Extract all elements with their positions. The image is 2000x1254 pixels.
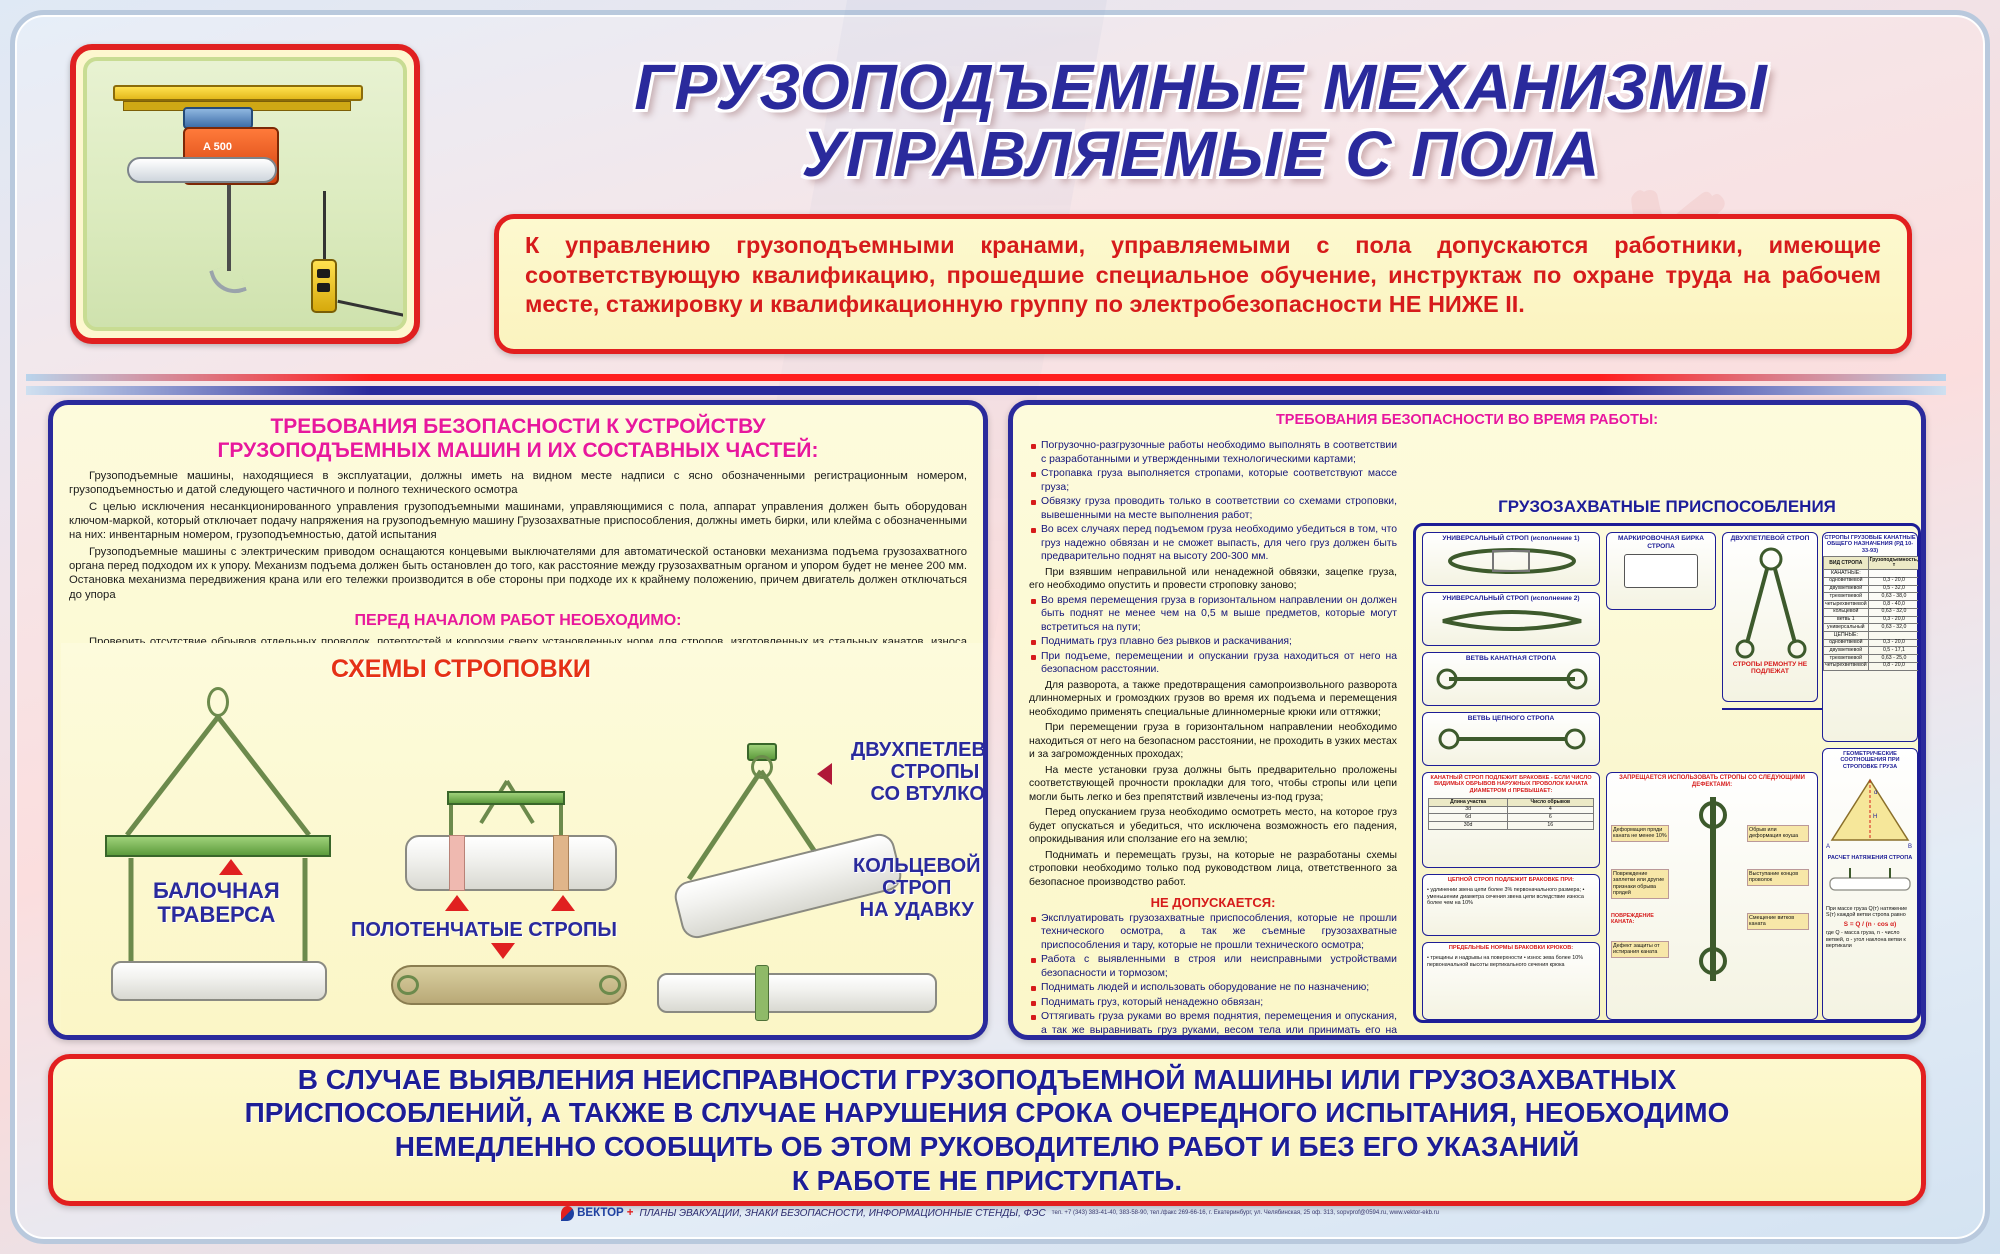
left-para-2: С целью исключения несанкционированного …: [69, 500, 967, 543]
cell-rope-branch: ВЕТВЬ КАНАТНАЯ СТРОПА: [1422, 652, 1600, 706]
footer-bar: ВЕКТОР + ПЛАНЫ ЭВАКУАЦИИ, ЗНАКИ БЕЗОПАСН…: [26, 1200, 1974, 1226]
hoist-model-label: A 500: [203, 141, 232, 153]
brand-name: ВЕКТОР: [577, 1207, 624, 1219]
geometry-text: При массе груза Q(т) натяжение S(т) кажд…: [1823, 905, 1917, 920]
right-para-3: На месте установки груза должны быть пре…: [1017, 763, 1409, 806]
brand-plus: +: [627, 1207, 634, 1219]
right-para-5: Поднимать и перемещать грузы, на которые…: [1017, 848, 1409, 891]
towel-strap-right: [553, 835, 569, 891]
label-towel-slings: ПОЛОТЕНЧАТЫЕ СТРОПЫ: [351, 919, 617, 941]
left-panel-title: ТРЕБОВАНИЯ БЕЗОПАСНОСТИ К УСТРОЙСТВУ ГРУ…: [53, 405, 983, 467]
geometry-note: где Q - масса груза, n - число ветвей, α…: [1823, 929, 1917, 950]
traverse-top-ring: [207, 687, 229, 717]
towel-load-pipe: [405, 835, 617, 891]
banner-line-4: К РАБОТЕ НЕ ПРИСТУПАТЬ.: [245, 1164, 1730, 1198]
right-para-4: Перед опусканием груза необходимо осмотр…: [1017, 805, 1409, 848]
right-panel-text-column: Погрузочно-разгрузочные работы необходим…: [1017, 439, 1409, 1039]
cell-rope-reject: КАНАТНЫЙ СТРОП ПОДЛЕЖИТ БРАКОВКЕ - ЕСЛИ …: [1422, 772, 1600, 868]
defect-1: Деформация пряди каната не менее 10%: [1611, 825, 1669, 842]
table-row: двухветвевой0,5 - 32,02 СК: [1824, 585, 1922, 593]
bullet-main-2: Стропавка груза выполняется стропами, ко…: [1029, 467, 1397, 494]
table-row: одноветвевой0,3 - 20,01 СЦ: [1824, 639, 1922, 647]
cell-universal-sling-2: УНИВЕРСАЛЬНЫЙ СТРОП (исполнение 2): [1422, 592, 1600, 646]
not-allowed-5: Оттягивать груза руками во время подняти…: [1029, 1010, 1397, 1039]
table-row: 30d16: [1429, 822, 1593, 830]
left-panel: ТРЕБОВАНИЯ БЕЗОПАСНОСТИ К УСТРОЙСТВУ ГРУ…: [48, 400, 988, 1040]
safety-poster: ✗ A 500: [0, 0, 2000, 1254]
right-panel: ТРЕБОВАНИЯ БЕЗОПАСНОСТИ ВО ВРЕМЯ РАБОТЫ:…: [1008, 400, 1926, 1040]
not-allowed-3: Поднимать людей и использовать оборудова…: [1029, 981, 1397, 995]
right-para-1: Для разворота, а также предотвращения са…: [1017, 678, 1409, 721]
traverse-beam: [105, 835, 331, 857]
cell-two-loop-sling: ДВУХПЕТЛЕВОЙ СТРОП СТРОПЫ РЕМОНТУ НЕ ПОД…: [1722, 532, 1818, 702]
flat-braided-sling: [391, 965, 627, 1005]
before-work-heading: ПЕРЕД НАЧАЛОМ РАБОТ НЕОБХОДИМО:: [53, 612, 983, 630]
defect-5: Смещение витков каната: [1747, 913, 1809, 930]
footer-contacts: тел. +7 (343) 383-41-40, 383-58-90, тел.…: [1052, 1210, 1439, 1216]
right-para-2: При перемещении груза в горизонтальном н…: [1017, 720, 1409, 763]
defect-3: Повреждение заплетки или другие признаки…: [1611, 869, 1669, 899]
bullets-move: Во время перемещения груза в горизонталь…: [1017, 594, 1409, 677]
not-allowed-2: Работа с выявленными в строя или неиспра…: [1029, 953, 1397, 980]
svg-text:B: B: [1908, 844, 1912, 850]
towel-beam: [447, 791, 565, 805]
flat-sling-eye-left: [397, 975, 419, 995]
label-beam-traverse: БАЛОЧНАЯ ТРАВЕРСА: [153, 879, 280, 927]
lifting-heading: При взявшим неправильной или ненадежной …: [1017, 565, 1409, 594]
arrow-towel-down: [491, 943, 515, 959]
traverse-load-pipe: [111, 961, 327, 1001]
arrow-traverse: [219, 859, 243, 875]
bullet-move-2: Поднимать груз плавно без рывков и раска…: [1029, 635, 1397, 649]
cell-hook-norms: ПРЕДЕЛЬНЫЕ НОРМЫ БРАКОВКИ КРЮКОВ: • трещ…: [1422, 942, 1600, 1020]
footer-tagline: ПЛАНЫ ЭВАКУАЦИИ, ЗНАКИ БЕЗОПАСНОСТИ, ИНФ…: [639, 1208, 1045, 1219]
divider-red: [26, 374, 1946, 381]
label-two-loop-sling: ДВУХПЕТЛЕВЫЕ СТРОПЫ СО ВТУЛКОЙ: [851, 739, 988, 805]
bullet-move-3: При подъеме, перемещении и опускании гру…: [1029, 650, 1397, 677]
divider-blue: [26, 386, 1946, 395]
table-row: 3d4: [1429, 806, 1593, 814]
sling-table-header-row: ВИД СТРОПА Грузоподъемность, т Условное …: [1824, 557, 1922, 570]
left-title-line-1: ТРЕБОВАНИЯ БЕЗОПАСНОСТИ К УСТРОЙСТВУ: [59, 415, 977, 439]
vector-logo: ВЕКТОР +: [561, 1206, 633, 1221]
right-panel-title: ТРЕБОВАНИЯ БЕЗОПАСНОСТИ ВО ВРЕМЯ РАБОТЫ:: [1013, 405, 1921, 432]
left-para-1: Грузоподъемные машины, находящиеся в экс…: [69, 469, 967, 498]
cell-forbidden-defects: ЗАПРЕЩАЕТСЯ ИСПОЛЬЗОВАТЬ СТРОПЫ СО СЛЕДУ…: [1606, 772, 1818, 1020]
left-para-3: Грузоподъемные машины с электрическим пр…: [69, 545, 967, 602]
geometry-formula: S = Q / (n · cos α): [1823, 920, 1917, 930]
page-title: ГРУЗОПОДЪЕМНЫЕ МЕХАНИЗМЫ УПРАВЛЯЕМЫЕ С П…: [446, 36, 1956, 187]
vector-mark-icon: [561, 1206, 574, 1221]
bullets-main: Погрузочно-разгрузочные работы необходим…: [1017, 439, 1409, 564]
banner-line-1: В СЛУЧАЕ ВЫЯВЛЕНИЯ НЕИСПРАВНОСТИ ГРУЗОПО…: [245, 1063, 1730, 1097]
table-row: ветвь 10,3 - 20,0ВК: [1824, 616, 1922, 624]
table-row: двухветвевой0,5 - 17,12 СЦ: [1824, 647, 1922, 655]
cell-geometry: ГЕОМЕТРИЧЕСКИЕ СООТНОШЕНИЯ ПРИ СТРОПОВКЕ…: [1822, 748, 1918, 1020]
intro-callout: К управлению грузоподъемными кранами, уп…: [494, 214, 1912, 354]
defect-4: Выступание концов проволок: [1747, 869, 1809, 886]
cell-universal-sling-1: УНИВЕРСАЛЬНЫЙ СТРОП (исполнение 1): [1422, 532, 1600, 586]
cell-chain-reject: ЦЕПНОЙ СТРОП ПОДЛЕЖИТ БРАКОВКЕ ПРИ: • уд…: [1422, 874, 1600, 936]
cell-sling-table: СТРОПЫ ГРУЗОВЫЕ КАНАТНЫЕ ОБЩЕГО НАЗНАЧЕН…: [1822, 532, 1918, 742]
title-line-2: УПРАВЛЯЕМЫЕ С ПОЛА: [446, 121, 1956, 188]
svg-text:H: H: [1873, 814, 1877, 820]
table-row: четырехветвевой0,8 - 20,04 СЦ: [1824, 662, 1922, 670]
poster-header: A 500 ГРУЗОПОДЪЕМНЫЕ МЕХАНИЗМЫ УПРАВЛЯЕМ…: [46, 30, 1966, 360]
svg-text:α: α: [1874, 790, 1878, 796]
bullet-main-1: Погрузочно-разгрузочные работы необходим…: [1029, 439, 1397, 466]
table-row: трехветвевой0,63 - 38,03 СК: [1824, 593, 1922, 601]
sling-schemes-diagram: СХЕМЫ СТРОПОВКИ: [61, 643, 985, 1039]
bullet-main-4: Во всех случаях перед подъемом груза нео…: [1029, 523, 1397, 564]
calc-title: РАСЧЕТ НАТЯЖЕНИЯ СТРОПА: [1823, 854, 1917, 862]
sling-th-1: Грузоподъемность, т: [1868, 557, 1920, 570]
danger-label: ПОВРЕЖДЕНИЕ КАНАТА:: [1611, 913, 1669, 926]
arrow-towel-right: [551, 895, 575, 911]
grab-devices-box: УНИВЕРСАЛЬНЫЙ СТРОП (исполнение 1) УНИВЕ…: [1413, 523, 1921, 1023]
label-ring-sling: КОЛЬЦЕВОЙ СТРОП НА УДАВКУ: [853, 855, 981, 921]
bullet-move-1: Во время перемещения груза в горизонталь…: [1029, 594, 1397, 635]
sling-table: ВИД СТРОПА Грузоподъемность, т Условное …: [1823, 556, 1921, 670]
bullet-main-3: Обвязку груза проводить только в соответ…: [1029, 495, 1397, 522]
defect-6: Дефект защиты от истирания каната: [1611, 941, 1669, 958]
sling-table-body: КАНАТНЫЕ: одноветвевой0,3 - 20,01 СК дву…: [1824, 570, 1922, 670]
defect-2: Обрыв или деформация коуша: [1747, 825, 1809, 842]
left-title-line-2: ГРУЗОПОДЪЕМНЫХ МАШИН И ИХ СОСТАВНЫХ ЧАСТ…: [59, 439, 977, 463]
banner-line-2: ПРИСПОСОБЛЕНИЙ, А ТАКЖЕ В СЛУЧАЕ НАРУШЕН…: [245, 1096, 1730, 1130]
intro-text: К управлению грузоподъемными кранами, уп…: [525, 231, 1881, 320]
left-panel-body: Грузоподъемные машины, находящиеся в экс…: [53, 467, 983, 606]
diagram-title: СХЕМЫ СТРОПОВКИ: [331, 655, 591, 684]
not-allowed-heading: НЕ ДОПУСКАЕТСЯ:: [1017, 895, 1409, 910]
cell-chain-branch: ВЕТВЬ ЦЕПНОГО СТРОПА: [1422, 712, 1600, 766]
sling-th-2: Условное обозначение: [1920, 557, 1921, 570]
not-allowed-4: Поднимать груз, который ненадежно обвяза…: [1029, 996, 1397, 1010]
title-line-1: ГРУЗОПОДЪЕМНЫЕ МЕХАНИЗМЫ: [634, 51, 1767, 123]
flat-sling-eye-right: [599, 975, 621, 995]
table-row: универсальный0,63 - 32,0УСК 1: [1824, 624, 1922, 632]
arrow-towel-left: [445, 895, 469, 911]
two-loop-ring: [751, 755, 773, 779]
not-allowed-1: Эксплуатировать грузозахватные приспособ…: [1029, 912, 1397, 953]
bullets-not-allowed: Эксплуатировать грузозахватные приспособ…: [1017, 912, 1409, 1040]
table-row: кольцевой0,63 - 32,0СКК: [1824, 608, 1922, 616]
grab-devices-title: ГРУЗОЗАХВАТНЫЕ ПРИСПОСОБЛЕНИЯ: [1413, 497, 1921, 517]
cell-marking-tag: МАРКИРОВОЧНАЯ БИРКА СТРОПА: [1606, 532, 1716, 610]
reject-table: Длина участкаЧисло обрывов 3d4 6d6 30d16: [1428, 798, 1593, 830]
towel-strap-left: [449, 835, 465, 891]
choker-wrap: [755, 965, 769, 1021]
banner-line-3: НЕМЕДЛЕННО СООБЩИТЬ ОБ ЭТОМ РУКОВОДИТЕЛЮ…: [245, 1130, 1730, 1164]
sling-th-0: ВИД СТРОПА: [1824, 557, 1869, 570]
svg-text:A: A: [1826, 844, 1830, 850]
table-row: 6d6: [1429, 814, 1593, 822]
warning-banner: В СЛУЧАЕ ВЫЯВЛЕНИЯ НЕИСПРАВНОСТИ ГРУЗОПО…: [48, 1054, 1926, 1206]
hoist-photo: A 500: [70, 44, 420, 344]
arrow-two-loop: [817, 763, 832, 785]
ring-sling-load-pipe: [657, 973, 937, 1013]
